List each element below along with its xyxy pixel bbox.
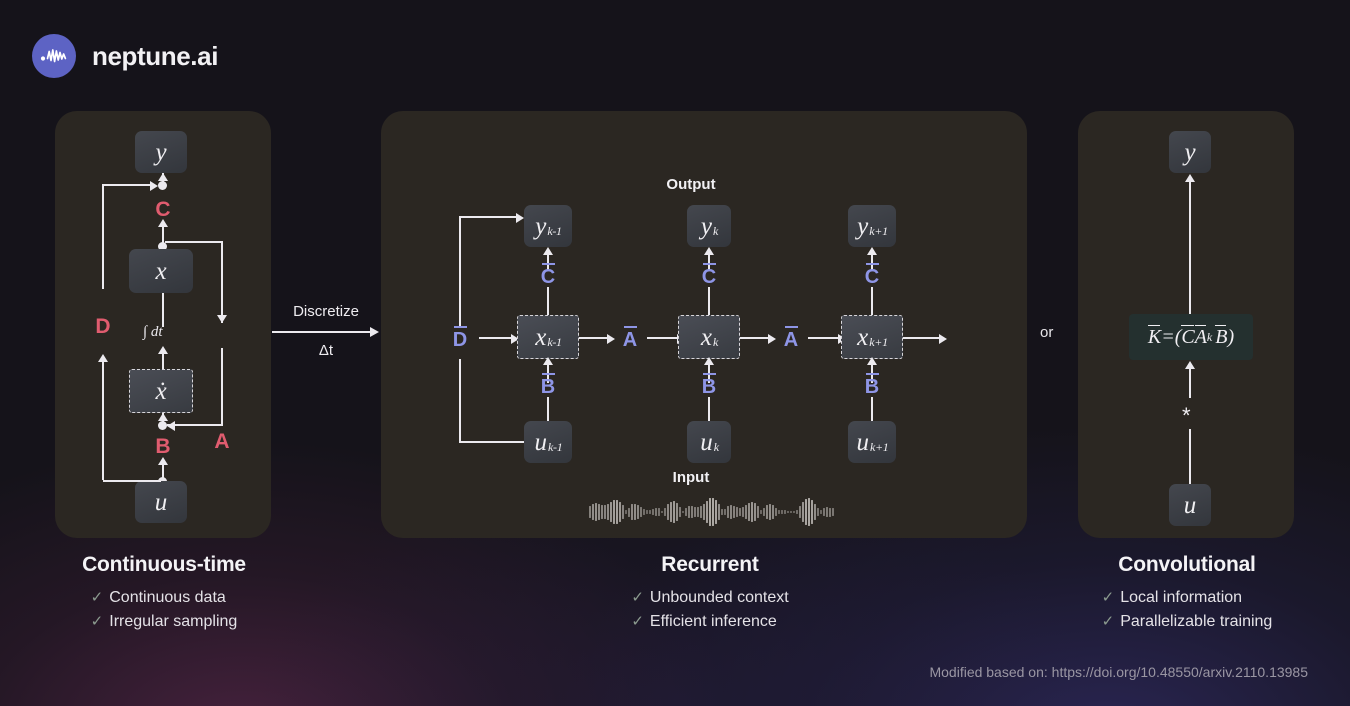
list-item: ✓Continuous data xyxy=(91,586,238,610)
arrowhead-integral-icon xyxy=(158,346,168,354)
matrix-label-A: A xyxy=(210,431,234,452)
edge-x-down xyxy=(162,293,164,327)
arrowhead-conv-y-icon xyxy=(1185,174,1195,182)
arrowhead-abar2-in-icon xyxy=(768,334,776,344)
edge-a-into-b xyxy=(167,424,223,426)
check-icon: ✓ xyxy=(631,587,644,610)
edge-u2-to-b2 xyxy=(708,397,710,422)
bullet-list-convolutional: ✓Local information ✓Parallelizable train… xyxy=(1102,586,1273,634)
convolution-operator: * xyxy=(1182,403,1191,429)
list-item: ✓Unbounded context xyxy=(631,586,788,610)
kernel-C: C xyxy=(1181,326,1194,349)
label-output: Output xyxy=(646,176,736,193)
edge-u1-to-b1 xyxy=(547,397,549,422)
arrowhead-d-icon xyxy=(98,354,108,362)
matrix-label-C-bar-2: C xyxy=(698,263,720,287)
arrowhead-dbar-to-y-icon xyxy=(516,213,524,223)
edge-d-left-up xyxy=(102,361,104,480)
arrowhead-x3-out-icon xyxy=(939,334,947,344)
edge-d-into-y xyxy=(102,184,154,186)
list-item: ✓Irregular sampling xyxy=(91,610,238,634)
matrix-label-A-bar-2: A xyxy=(779,326,803,350)
edge-u3-to-b3 xyxy=(871,397,873,422)
arrowhead-a-into-b-icon xyxy=(167,421,175,431)
arrowhead-abar1-in-icon xyxy=(607,334,615,344)
node-x: x xyxy=(129,249,193,293)
node-x-k: xk xyxy=(678,315,740,359)
edge-dbar-down xyxy=(459,359,461,443)
discretize-arrow-icon xyxy=(272,324,380,340)
edge-d-bottom xyxy=(103,480,161,482)
list-item: ✓Local information xyxy=(1102,586,1273,610)
edge-abar2-to-x3 xyxy=(808,337,842,339)
matrix-label-B-bar-1: B xyxy=(537,373,559,397)
kernel-formula-box: K=(CAkB) xyxy=(1129,314,1253,360)
matrix-label-C: C xyxy=(151,199,175,220)
list-item: ✓Efficient inference xyxy=(631,610,788,634)
matrix-label-B-bar-2: B xyxy=(698,373,720,397)
arrowhead-to-xdot-icon xyxy=(158,413,168,421)
edge-dbar-to-x xyxy=(479,337,513,339)
source-attribution: Modified based on: https://doi.org/10.48… xyxy=(929,664,1308,680)
edge-abar1-to-x2 xyxy=(647,337,681,339)
edge-kernel-to-y xyxy=(1189,181,1191,314)
arrowhead-to-y-icon xyxy=(158,173,168,181)
edge-dbar-up xyxy=(459,216,461,326)
node-u-k: uk xyxy=(687,421,731,463)
junction-dot-b xyxy=(158,421,167,430)
kernel-exponent: k xyxy=(1207,330,1212,345)
kernel-B: B xyxy=(1215,326,1227,349)
arrowhead-b1-icon xyxy=(543,357,553,365)
neptune-waveform-logo-icon xyxy=(32,34,76,78)
arrowhead-to-b-icon xyxy=(158,457,168,465)
node-u: u xyxy=(135,481,187,523)
kernel-K: K xyxy=(1148,326,1161,349)
header: neptune.ai xyxy=(32,34,218,78)
input-waveform xyxy=(589,495,834,529)
caption-title-convolutional: Convolutional xyxy=(1040,553,1334,577)
panel-recurrent: Output Input D yk-1 C xk-1 B uk-1 A xyxy=(381,111,1027,538)
edge-dbar-to-y xyxy=(469,216,519,218)
edge-a-lower xyxy=(221,348,223,426)
node-conv-u: u xyxy=(1169,484,1211,526)
edge-d-upper xyxy=(102,184,104,289)
node-conv-y: y xyxy=(1169,131,1211,173)
arrowhead-c2-icon xyxy=(704,247,714,255)
label-input: Input xyxy=(646,469,736,486)
node-y-k-minus-1: yk-1 xyxy=(524,205,572,247)
arrowhead-b2-icon xyxy=(704,357,714,365)
junction-dot-y xyxy=(158,181,167,190)
arrowhead-a-icon xyxy=(217,315,227,323)
kernel-equals: =( xyxy=(1161,326,1181,349)
check-icon: ✓ xyxy=(91,611,104,634)
edge-x2-to-c2 xyxy=(708,287,710,316)
node-y-k-plus-1: yk+1 xyxy=(848,205,896,247)
caption-recurrent: Recurrent ✓Unbounded context ✓Efficient … xyxy=(560,553,860,634)
edge-u-to-star xyxy=(1189,429,1191,485)
brand-title: neptune.ai xyxy=(92,41,218,72)
node-x-dot: ẋ xyxy=(129,369,193,413)
node-y-k: yk xyxy=(687,205,731,247)
list-item: ✓Parallelizable training xyxy=(1102,610,1273,634)
arrowhead-b3-icon xyxy=(867,357,877,365)
matrix-label-D: D xyxy=(91,316,115,337)
panel-continuous-time: y C x ∫ dt ẋ B u A xyxy=(55,111,271,538)
node-u-k-plus-1: uk+1 xyxy=(848,421,896,463)
node-x-k-plus-1: xk+1 xyxy=(841,315,903,359)
arrowhead-to-c-icon xyxy=(158,219,168,227)
arrowhead-kernel-icon xyxy=(1185,361,1195,369)
matrix-label-A-bar-1: A xyxy=(618,326,642,350)
delta-t-label: Δt xyxy=(272,342,380,359)
arrowhead-c3-icon xyxy=(867,247,877,255)
discretize-label: Discretize xyxy=(272,303,380,320)
arrowhead-c1-icon xyxy=(543,247,553,255)
node-x-k-minus-1: xk-1 xyxy=(517,315,579,359)
check-icon: ✓ xyxy=(631,611,644,634)
matrix-label-C-bar-1: C xyxy=(537,263,559,287)
discretize-transition: Discretize Δt xyxy=(272,303,380,359)
caption-title-continuous: Continuous-time xyxy=(33,553,295,577)
node-u-k-minus-1: uk-1 xyxy=(524,421,572,463)
caption-continuous-time: Continuous-time ✓Continuous data ✓Irregu… xyxy=(33,553,295,634)
matrix-label-B-bar-3: B xyxy=(861,373,883,397)
kernel-close: ) xyxy=(1227,326,1234,349)
matrix-label-C-bar-3: C xyxy=(861,263,883,287)
matrix-label-B: B xyxy=(151,436,175,457)
bullet-list-continuous: ✓Continuous data ✓Irregular sampling xyxy=(91,586,238,634)
edge-x1-to-c1 xyxy=(547,287,549,316)
node-y: y xyxy=(135,131,187,173)
check-icon: ✓ xyxy=(1102,587,1115,610)
kernel-A: A xyxy=(1195,326,1207,349)
edge-a-top xyxy=(165,241,223,243)
caption-convolutional: Convolutional ✓Local information ✓Parall… xyxy=(1040,553,1334,634)
edge-a-right-down xyxy=(221,241,223,323)
matrix-label-D-bar: D xyxy=(449,326,471,350)
integral-dt-label: ∫ dt xyxy=(143,324,163,341)
arrowhead-d-into-y-icon xyxy=(150,181,158,191)
or-separator-label: or xyxy=(1040,324,1053,341)
bullet-list-recurrent: ✓Unbounded context ✓Efficient inference xyxy=(631,586,788,634)
edge-dbar-from-u xyxy=(459,441,529,443)
edge-x3-to-c3 xyxy=(871,287,873,316)
caption-title-recurrent: Recurrent xyxy=(560,553,860,577)
check-icon: ✓ xyxy=(91,587,104,610)
edge-x3-out xyxy=(903,337,943,339)
check-icon: ✓ xyxy=(1102,611,1115,634)
